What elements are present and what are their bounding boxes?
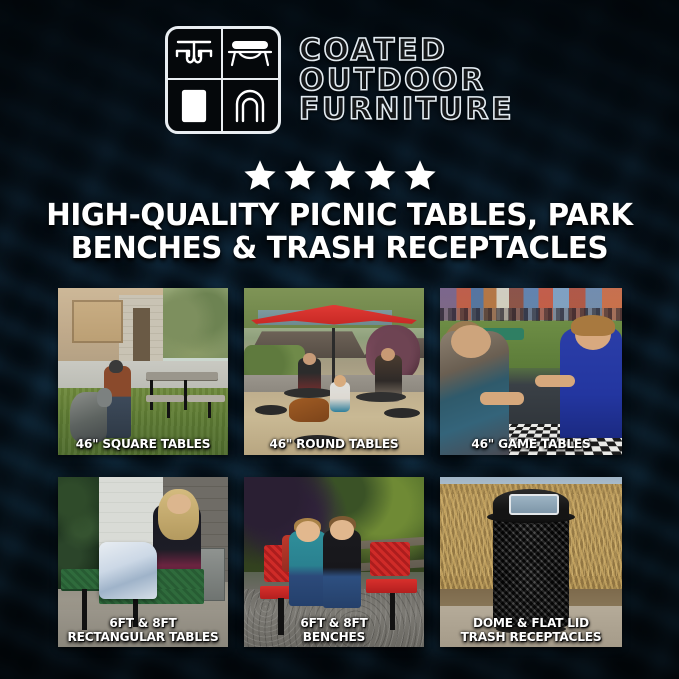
trash-receptacle-icon [168,80,223,131]
logo-mark-icon [165,26,281,134]
product-grid: 46" SQUARE TABLES [58,288,622,647]
product-caption: 46" ROUND TABLES [249,437,420,451]
headline-line-2: BENCHES & TRASH RECEPTACLES [40,233,638,266]
product-tile-game-tables[interactable]: 46" GAME TABLES [440,288,622,455]
brand-logo: COATED OUTDOOR FURNITURE [0,26,679,134]
product-banner: COATED OUTDOOR FURNITURE HIGH-QUALITY PI… [0,0,679,679]
page-title: HIGH-QUALITY PICNIC TABLES, PARK BENCHES… [40,200,638,265]
park-bench-icon [223,29,278,80]
product-caption: 6FT & 8FT RECTANGULAR TABLES [62,616,223,643]
product-caption: DOME & FLAT LID TRASH RECEPTACLES [445,616,618,643]
brand-wordmark: COATED OUTDOOR FURNITURE [299,37,514,125]
headline-line-1: HIGH-QUALITY PICNIC TABLES, PARK [46,198,632,233]
product-caption: 46" SQUARE TABLES [62,437,223,451]
picnic-table-icon [168,29,223,80]
star-icon [323,158,357,192]
product-caption: 6FT & 8FT BENCHES [249,616,420,643]
star-icon [283,158,317,192]
product-tile-square-tables[interactable]: 46" SQUARE TABLES [58,288,228,455]
product-photo-game-tables [440,288,622,455]
star-icon [403,158,437,192]
product-caption: 46" GAME TABLES [445,437,618,451]
star-icon [363,158,397,192]
wordmark-line-3: FURNITURE [299,96,514,125]
wordmark-line-2: OUTDOOR [299,67,514,96]
wordmark-line-1: COATED [299,37,514,66]
star-rating [0,158,679,192]
product-tile-benches[interactable]: 6FT & 8FT BENCHES [244,477,424,647]
product-tile-rectangular-tables[interactable]: 6FT & 8FT RECTANGULAR TABLES [58,477,228,647]
product-photo-square-tables [58,288,228,455]
product-tile-trash-receptacles[interactable]: DOME & FLAT LID TRASH RECEPTACLES [440,477,622,647]
bike-rack-icon [223,80,278,131]
product-tile-round-tables[interactable]: 46" ROUND TABLES [244,288,424,455]
star-icon [243,158,277,192]
product-photo-round-tables [244,288,424,455]
